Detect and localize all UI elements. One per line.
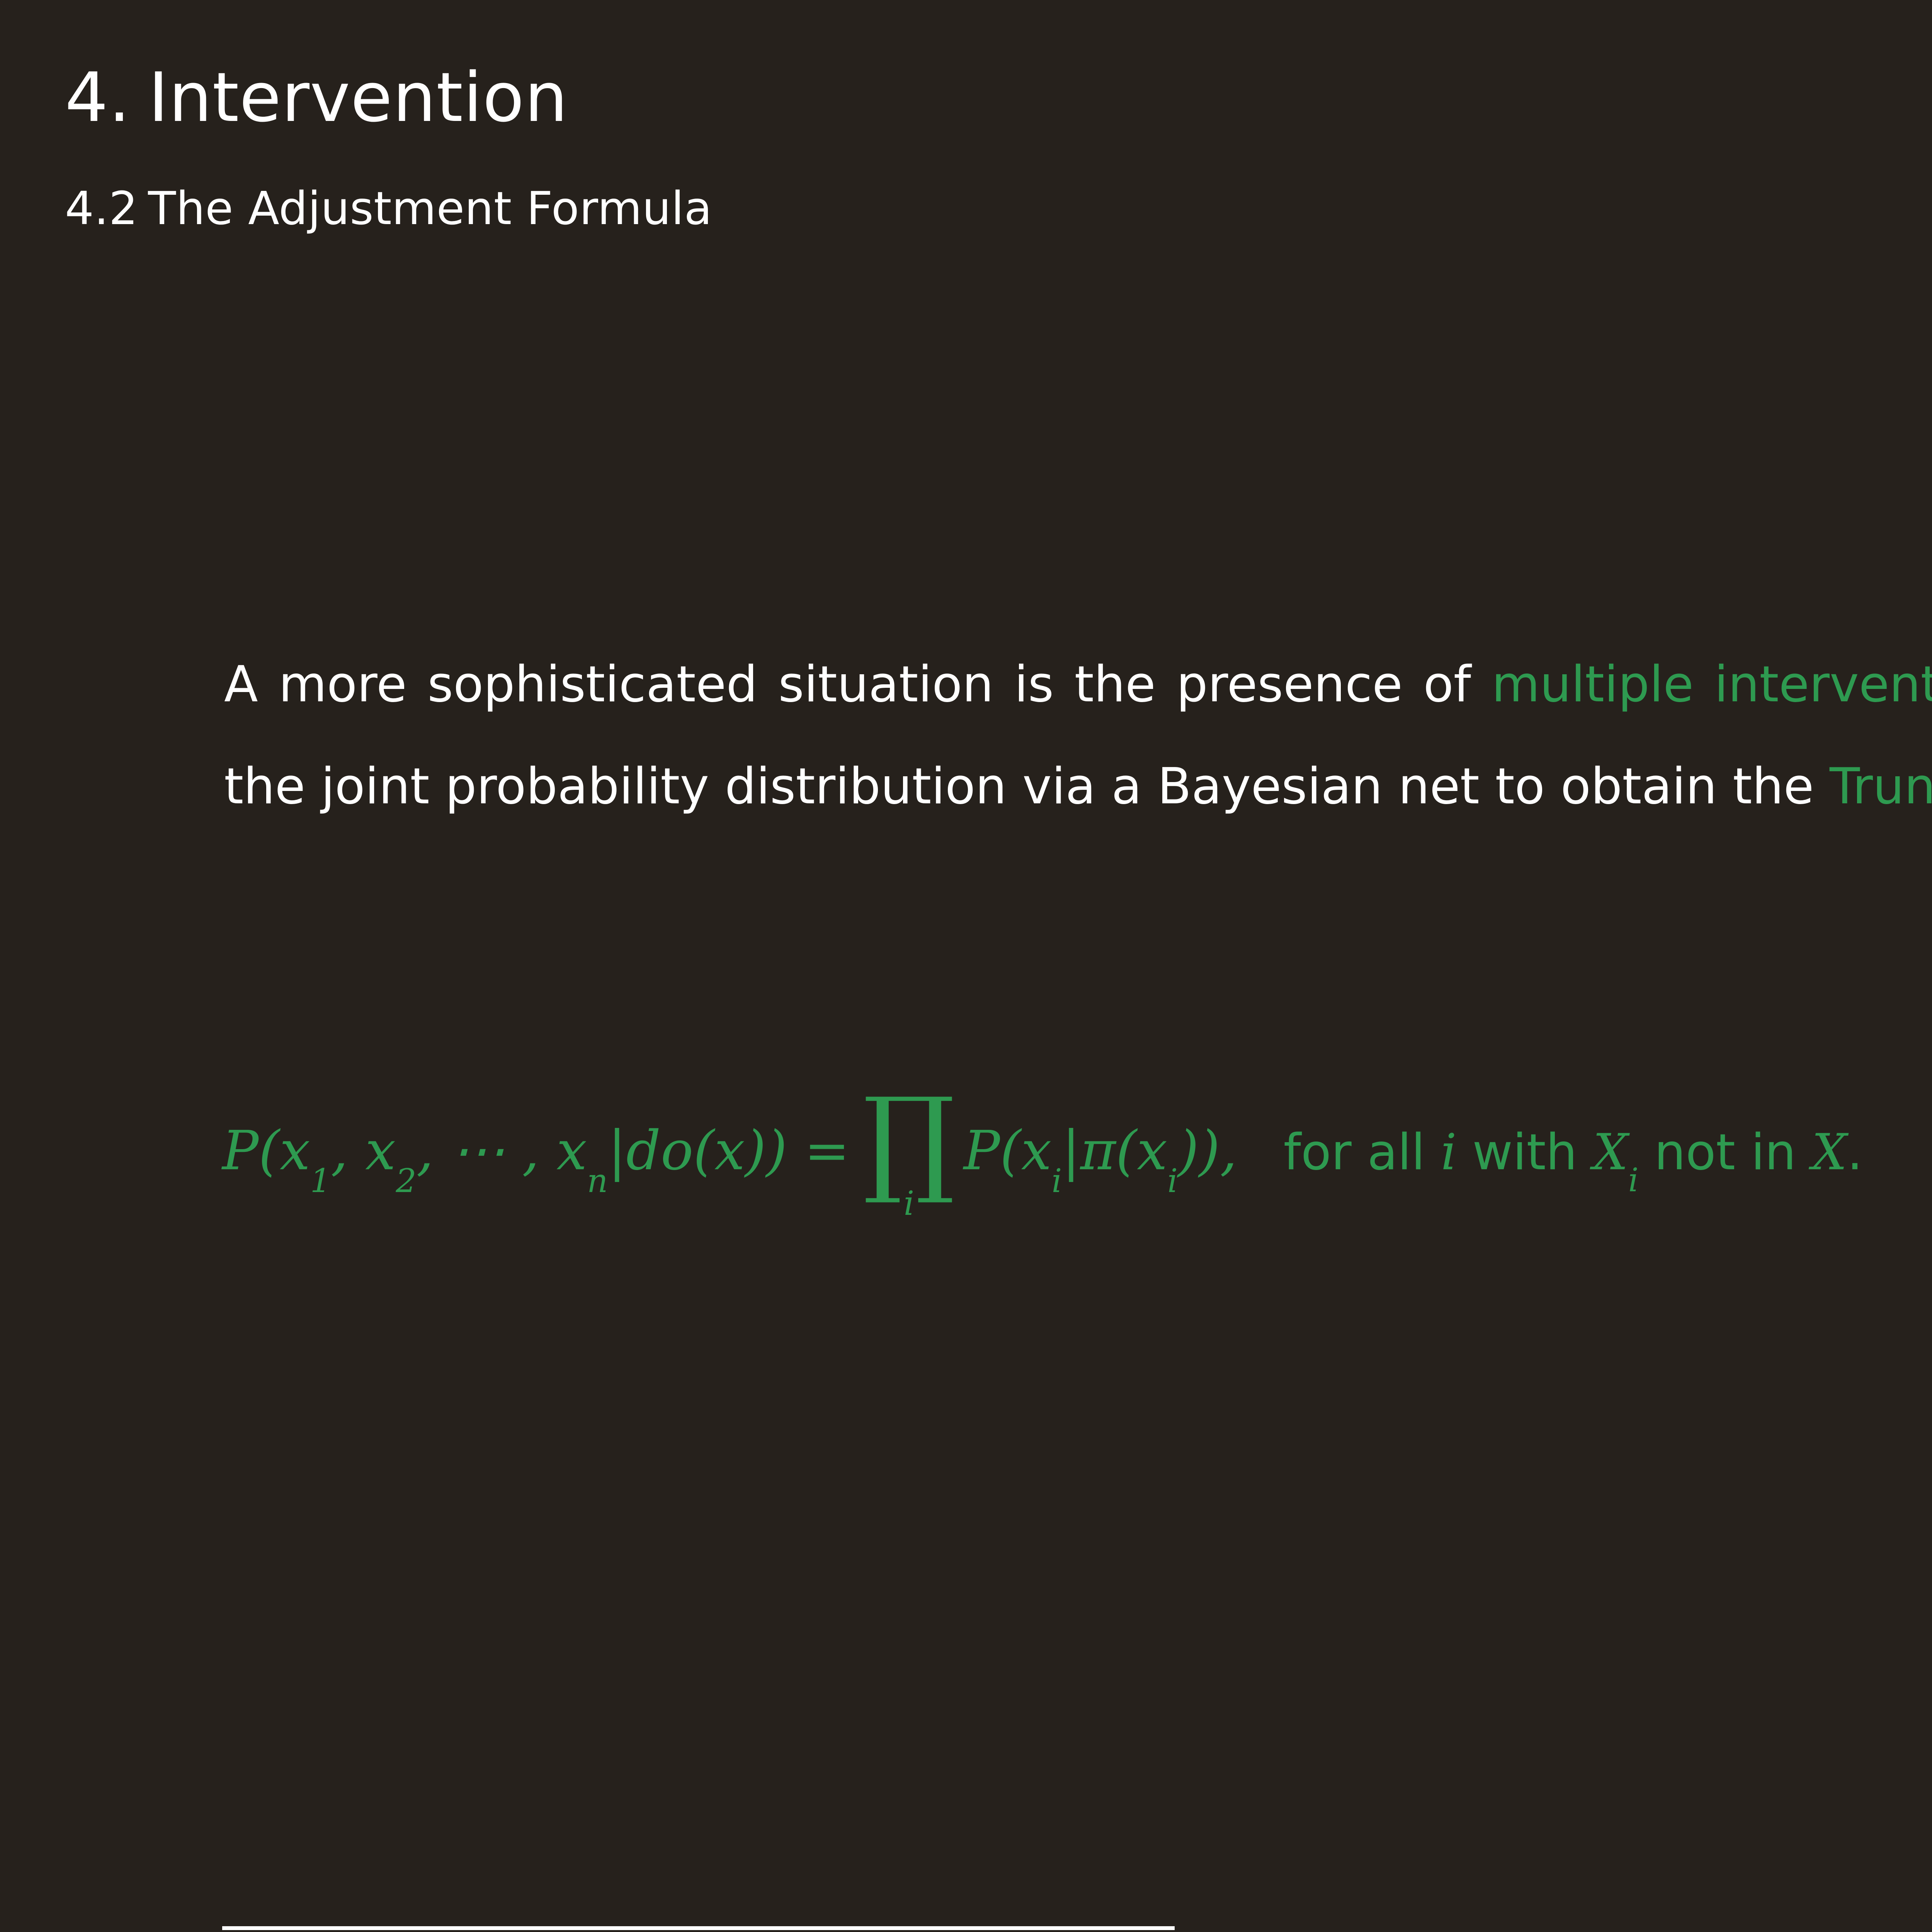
page-subtitle: 4.2The Adjustment Formula [65, 182, 712, 235]
product-operator: ∏ i [863, 1104, 955, 1220]
page-title: 4.Intervention [65, 58, 568, 137]
subtitle-text: The Adjustment Formula [148, 182, 712, 235]
body-segment-1: A more sophisticated situation is the pr… [224, 656, 1492, 713]
body-accent-multiple-interventions: multiple interventions [1492, 656, 1932, 713]
product-symbol: ∏ [863, 1104, 955, 1176]
footnote-divider [222, 1926, 1175, 1930]
equation-left-hand-side: P(x1, x2, ⋯ , xn|do(x)) = [222, 1119, 850, 1182]
equation-right-hand-side: P(xi|π(xi)), [964, 1119, 1237, 1182]
slide-header: 4.Intervention 4.2The Adjustment Formula [0, 0, 1932, 317]
subtitle-number: 4.2 [65, 182, 138, 235]
equation-condition: for all i with Xi not in X. [1284, 1124, 1863, 1181]
body-accent-truncated-product-rule: Truncated Product Rule [1830, 758, 1932, 815]
title-number: 4. [65, 58, 131, 137]
body-paragraph: A more sophisticated situation is the pr… [224, 634, 1932, 838]
title-text: Intervention [148, 58, 568, 137]
product-index: i [904, 1187, 915, 1220]
truncated-product-rule-equation: P(x1, x2, ⋯ , xn|do(x)) = ∏ i P(xi|π(xi)… [222, 1094, 1932, 1310]
